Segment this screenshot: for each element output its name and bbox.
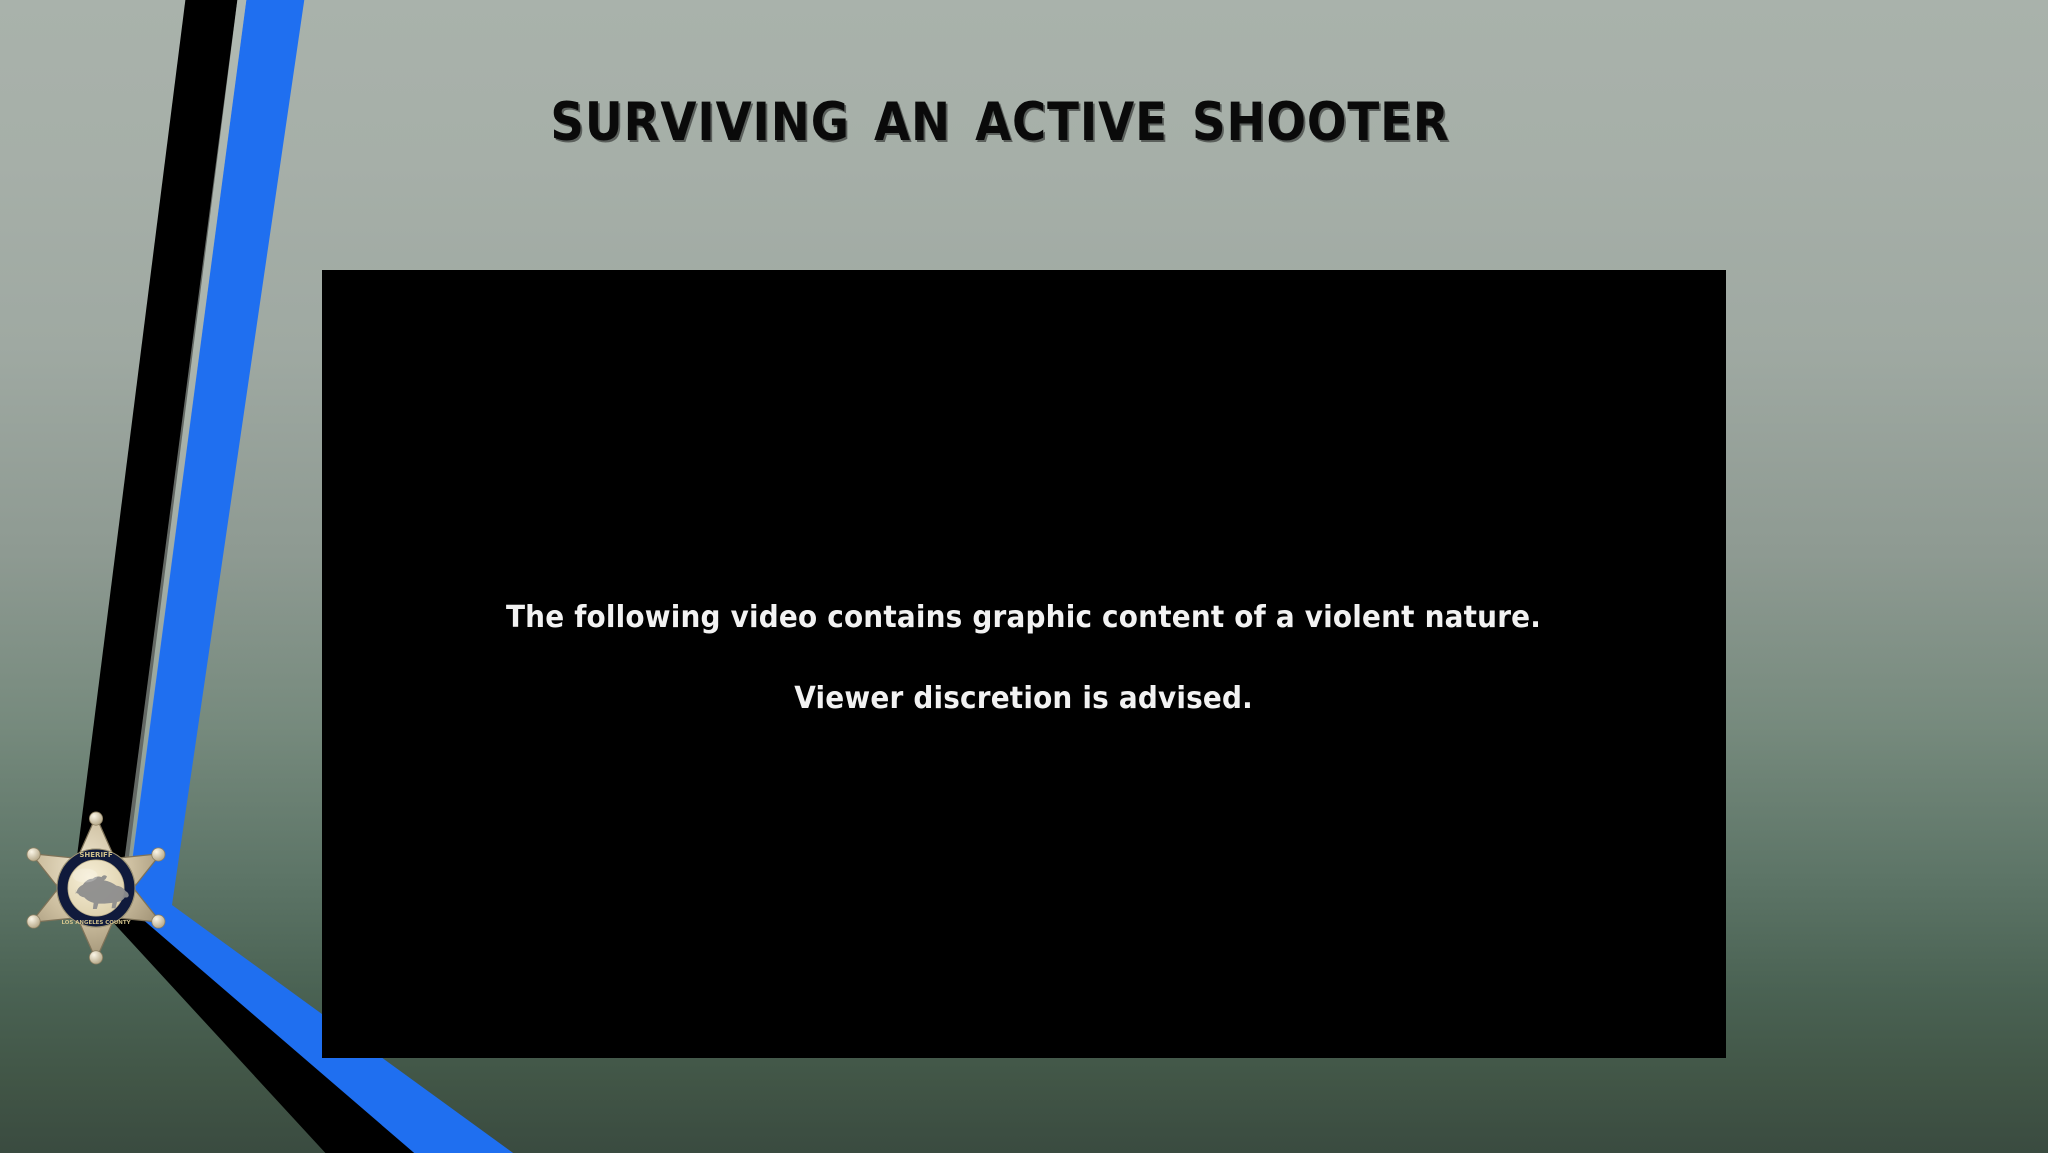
video-warning-line-2: Viewer discretion is advised.	[795, 681, 1254, 716]
video-warning-container: The following video contains graphic con…	[322, 270, 1726, 1058]
stripe-edge-highlight	[120, 0, 247, 893]
black-stripe-upper	[74, 0, 238, 880]
video-warning-line-1: The following video contains graphic con…	[506, 600, 1541, 635]
video-placeholder[interactable]: The following video contains graphic con…	[322, 270, 1726, 1058]
svg-text:LOS ANGELES COUNTY: LOS ANGELES COUNTY	[61, 920, 130, 926]
page-title: Surviving an Active Shooter	[384, 58, 1616, 168]
sheriff-badge: SHERIFF LOS ANGELES COUNTY	[18, 810, 174, 966]
blue-stripe-upper	[126, 0, 305, 905]
presentation-slide: SHERIFF LOS ANGELES COUNTY Surviving an …	[0, 0, 2048, 1153]
svg-text:SHERIFF: SHERIFF	[79, 850, 112, 859]
